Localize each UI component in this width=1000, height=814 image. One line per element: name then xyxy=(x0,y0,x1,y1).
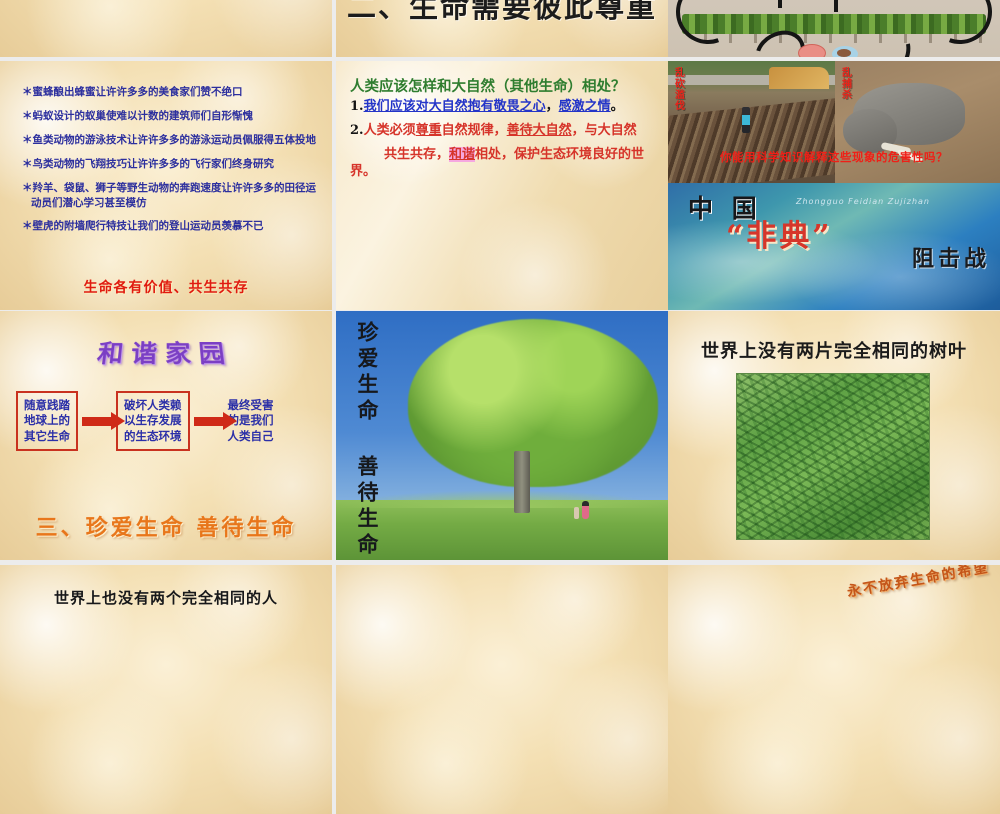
slide-r3c1[interactable] xyxy=(336,565,668,814)
answer-number: 1. xyxy=(350,99,364,114)
continuation-prefix: 共生共存， xyxy=(384,147,449,162)
tree-canopy-shape xyxy=(408,319,658,487)
list-item: ＊羚羊、袋鼠、狮子等野生动物的奔跑速度让许许多多的田径运动员们潜心学习甚至模仿 xyxy=(22,181,318,211)
conclusion-text: 生命各有价值、共生共存 xyxy=(0,277,332,297)
up-arrow-icon xyxy=(778,0,782,8)
list-item: ＊鱼类动物的游泳技术让许许多多的游泳运动员佩服得五体投地 xyxy=(22,133,318,148)
answer-seg: 人类必须 xyxy=(364,123,416,138)
wordart-never-give-up: 永不放弃生命的希望 xyxy=(845,565,990,601)
bare-hill-shape xyxy=(769,67,829,89)
slide-r3c2[interactable]: 永不放弃生命的希望 xyxy=(668,565,1000,814)
slide-r0c0[interactable]: 缤纷神奇的生命世界。 xyxy=(0,0,332,57)
slide-r0c2[interactable] xyxy=(668,0,1000,57)
section-heading-3: 三、珍爱生命 善待生命 xyxy=(0,510,332,542)
bullet-list: ＊蜜蜂酿出蜂蜜让许许多多的美食家们赞不绝口 ＊蚂蚁设计的蚁巢使难以计数的建筑师们… xyxy=(22,85,318,243)
slide-r2c2[interactable]: 世界上没有两片完全相同的树叶 xyxy=(668,311,1000,560)
vertical-slogan-text: 珍爱生命 善待生命 xyxy=(352,321,382,559)
photo-collage: 乱砍滥伐 乱捕杀 中 国 Zhongguo Feidian Zujizhan “… xyxy=(668,61,1000,310)
child-figure xyxy=(574,507,579,519)
slide-title-leaves: 世界上没有两片完全相同的树叶 xyxy=(668,337,1000,363)
right-arrow-icon xyxy=(82,417,112,426)
handout-sheet: 缤纷神奇的生命世界。 二、生命需要彼此尊重 ＊蜜蜂酿出蜂蜜让许许多多的美食家们赞… xyxy=(0,0,1000,600)
slide-title-people: 世界上也没有两个完全相同的人 xyxy=(0,587,332,608)
ecosystem-cycle-diagram xyxy=(668,0,1000,57)
slide-r0c1[interactable]: 二、生命需要彼此尊重 xyxy=(336,0,668,57)
answer-continuation: 共生共存，和谐相处，保护生态环境良好的世界。 xyxy=(350,146,658,181)
answer-seg: ，与大自然 xyxy=(572,123,637,138)
slide-r1c0[interactable]: ＊蜜蜂酿出蜂蜜让许许多多的美食家们赞不绝口 ＊蚂蚁设计的蚁巢使难以计数的建筑师们… xyxy=(0,61,332,310)
right-arrow-icon xyxy=(194,417,224,426)
continuation-highlight: 和谐 xyxy=(449,147,475,162)
list-item: ＊鸟类动物的飞翔技巧让许许多多的飞行家们终身研究 xyxy=(22,157,318,172)
big-tree-on-meadow-photo: 珍爱生命 善待生命 xyxy=(336,311,668,560)
fern-leaves-photo xyxy=(736,373,930,540)
grass-shape xyxy=(336,500,668,560)
up-arrow-icon xyxy=(834,0,838,12)
flow-box-1: 随意践踏 地球上的 其它生命 xyxy=(16,391,78,451)
answer-seg: ， xyxy=(546,99,559,114)
slide-r0c0-text: 缤纷神奇的生命世界。 xyxy=(0,0,332,1)
flow-box-2: 破坏人类赖 以生存发展 的生态环境 xyxy=(116,391,190,451)
answer-seg-emph: 敬畏之心 xyxy=(494,99,546,114)
question-text: 人类应该怎样和大自然（其他生命）相处？ xyxy=(350,77,658,96)
list-item: ＊蚂蚁设计的蚁巢使难以计数的建筑师们自形惭愧 xyxy=(22,109,318,124)
overlay-question-text: 你能用科学知识解释这些现象的危害性吗？ xyxy=(668,149,1000,165)
answer-seg: 。 xyxy=(611,99,624,114)
list-item: ＊壁虎的附墙爬行特技让我们的登山运动员羡慕不已 xyxy=(22,219,318,234)
flow-diagram: 随意践踏 地球上的 其它生命 破坏人类赖 以生存发展 的生态环境 最终受害 的是… xyxy=(16,391,320,451)
answer-item-2: 2.人类必须尊重自然规律，善待大自然，与大自然 xyxy=(350,122,658,140)
answer-seg: 自然规律， xyxy=(442,123,507,138)
tree-trunk-shape xyxy=(514,451,530,513)
slide-r1c2[interactable]: 乱砍滥伐 乱捕杀 中 国 Zhongguo Feidian Zujizhan “… xyxy=(668,61,1000,310)
photo-label-deforestation: 乱砍滥伐 xyxy=(672,67,683,111)
answer-item-1: 1.我们应该对大自然抱有敬畏之心，感激之情。 xyxy=(350,98,658,116)
photo-label-poaching: 乱捕杀 xyxy=(839,67,850,100)
list-item: ＊蜜蜂酿出蜂蜜让许许多多的美食家们赞不绝口 xyxy=(22,85,318,100)
decomposer-icon xyxy=(832,46,858,57)
poster-subtitle-text: 阻击战 xyxy=(912,241,990,273)
person-figure xyxy=(582,501,589,519)
question-answer-block: 人类应该怎样和大自然（其他生命）相处？ 1.我们应该对大自然抱有敬畏之心，感激之… xyxy=(350,77,658,187)
section-title-2: 二、生命需要彼此尊重 xyxy=(336,0,668,26)
decomposer-icon xyxy=(798,44,826,57)
answer-number: 2. xyxy=(350,123,364,138)
cut-logs-shape xyxy=(668,97,835,183)
person-figure xyxy=(742,107,750,133)
answer-seg-emph: 尊重 xyxy=(416,123,442,138)
poster-quoted-text: “非典” xyxy=(726,211,833,255)
answer-seg-emph: 感激之情 xyxy=(559,99,611,114)
answer-seg-emph: 善待大自然 xyxy=(507,123,572,138)
sars-poster-photo: 中 国 Zhongguo Feidian Zujizhan “非典” 阻击战 xyxy=(668,183,1000,310)
wordart-harmonious-home: 和谐家园 xyxy=(44,336,286,381)
poster-pinyin-text: Zhongguo Feidian Zujizhan xyxy=(796,197,930,206)
slide-r2c0[interactable]: 和谐家园 随意践踏 地球上的 其它生命 破坏人类赖 以生存发展 的生态环境 最终… xyxy=(0,311,332,560)
answer-seg: 我们应该对大自然抱有 xyxy=(364,99,494,114)
slide-r1c1[interactable]: 人类应该怎样和大自然（其他生命）相处？ 1.我们应该对大自然抱有敬畏之心，感激之… xyxy=(336,61,668,310)
slide-r2c1[interactable]: 珍爱生命 善待生命 xyxy=(336,311,668,560)
slide-r3c0[interactable]: 世界上也没有两个完全相同的人 xyxy=(0,565,332,814)
